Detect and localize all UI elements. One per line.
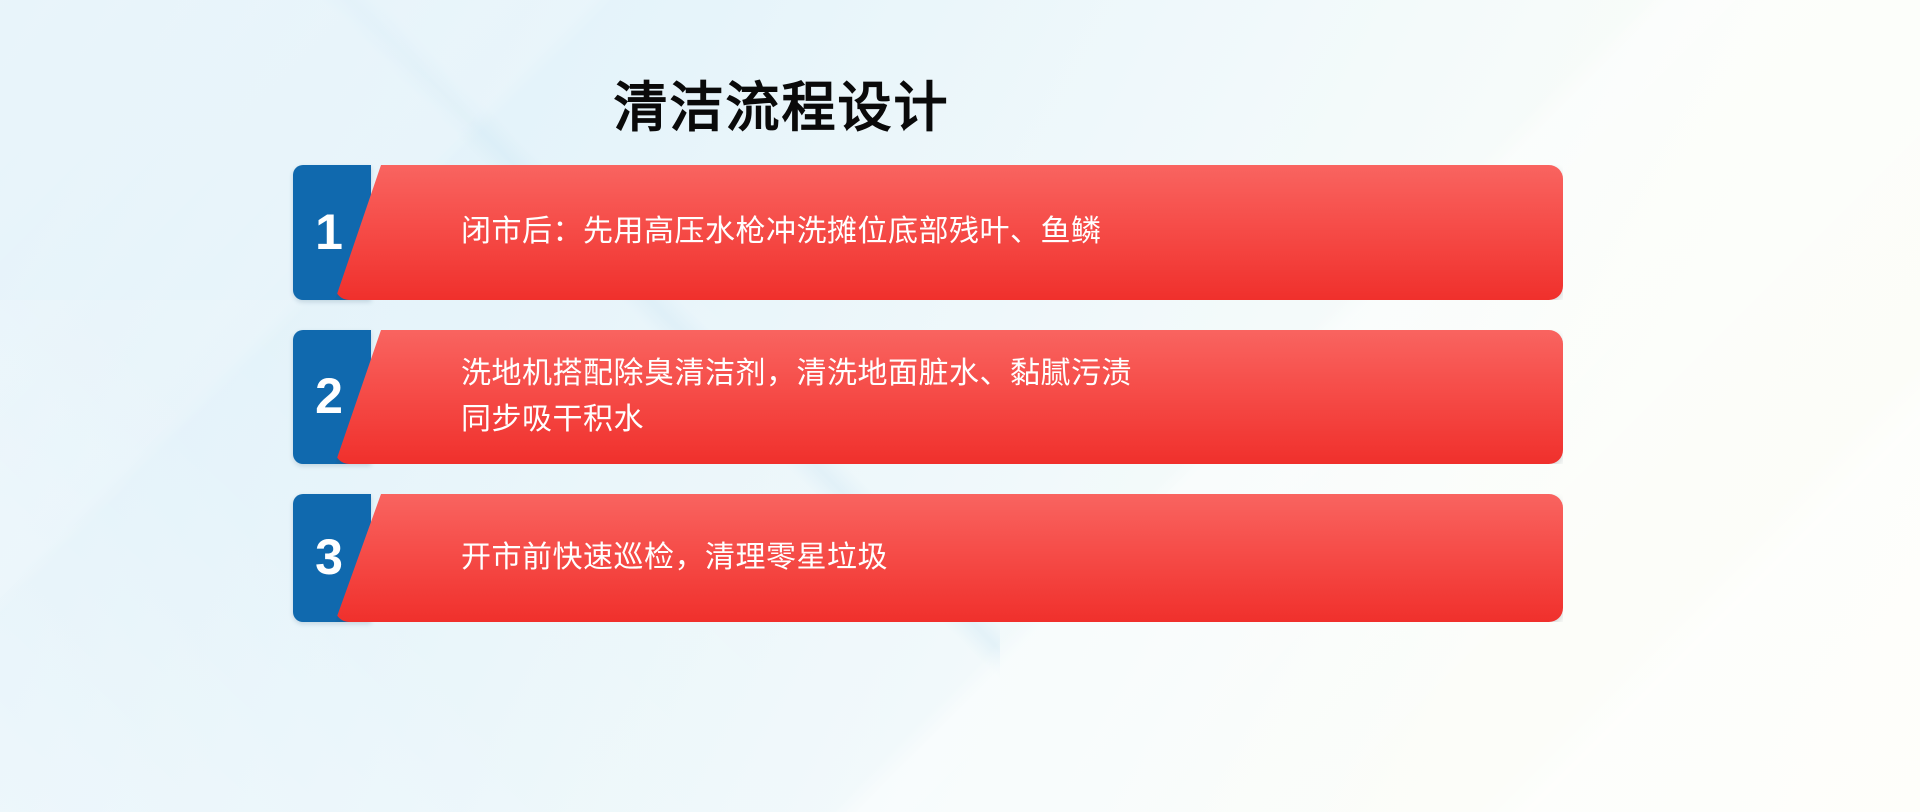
- step-text-line: 洗地机搭配除臭清洁剂，清洗地面脏水、黏腻污渍: [461, 351, 1132, 398]
- step-content-panel: 闭市后：先用高压水枪冲洗摊位底部残叶、鱼鳞: [335, 165, 1563, 300]
- step-text-line: 同步吸干积水: [461, 397, 1132, 444]
- step-number-label: 1: [315, 207, 343, 257]
- step-text-block: 开市前快速巡检，清理零星垃圾: [335, 535, 928, 582]
- step-text-block: 洗地机搭配除臭清洁剂，清洗地面脏水、黏腻污渍 同步吸干积水: [335, 351, 1172, 444]
- step-text-line: 开市前快速巡检，清理零星垃圾: [461, 535, 888, 582]
- step-content-panel: 开市前快速巡检，清理零星垃圾: [335, 494, 1563, 622]
- step-content-panel: 洗地机搭配除臭清洁剂，清洗地面脏水、黏腻污渍 同步吸干积水: [335, 330, 1563, 464]
- step-text-block: 闭市后：先用高压水枪冲洗摊位底部残叶、鱼鳞: [335, 209, 1142, 256]
- step-number-label: 3: [315, 532, 343, 582]
- step-number-label: 2: [315, 371, 343, 421]
- page-title: 清洁流程设计: [0, 76, 1563, 141]
- step-text-line: 闭市后：先用高压水枪冲洗摊位底部残叶、鱼鳞: [461, 209, 1102, 256]
- slide-canvas: 清洁流程设计 1 闭市后：先用高压水枪冲洗摊位底部残叶、鱼鳞 2 洗地机搭配除臭…: [0, 0, 1920, 812]
